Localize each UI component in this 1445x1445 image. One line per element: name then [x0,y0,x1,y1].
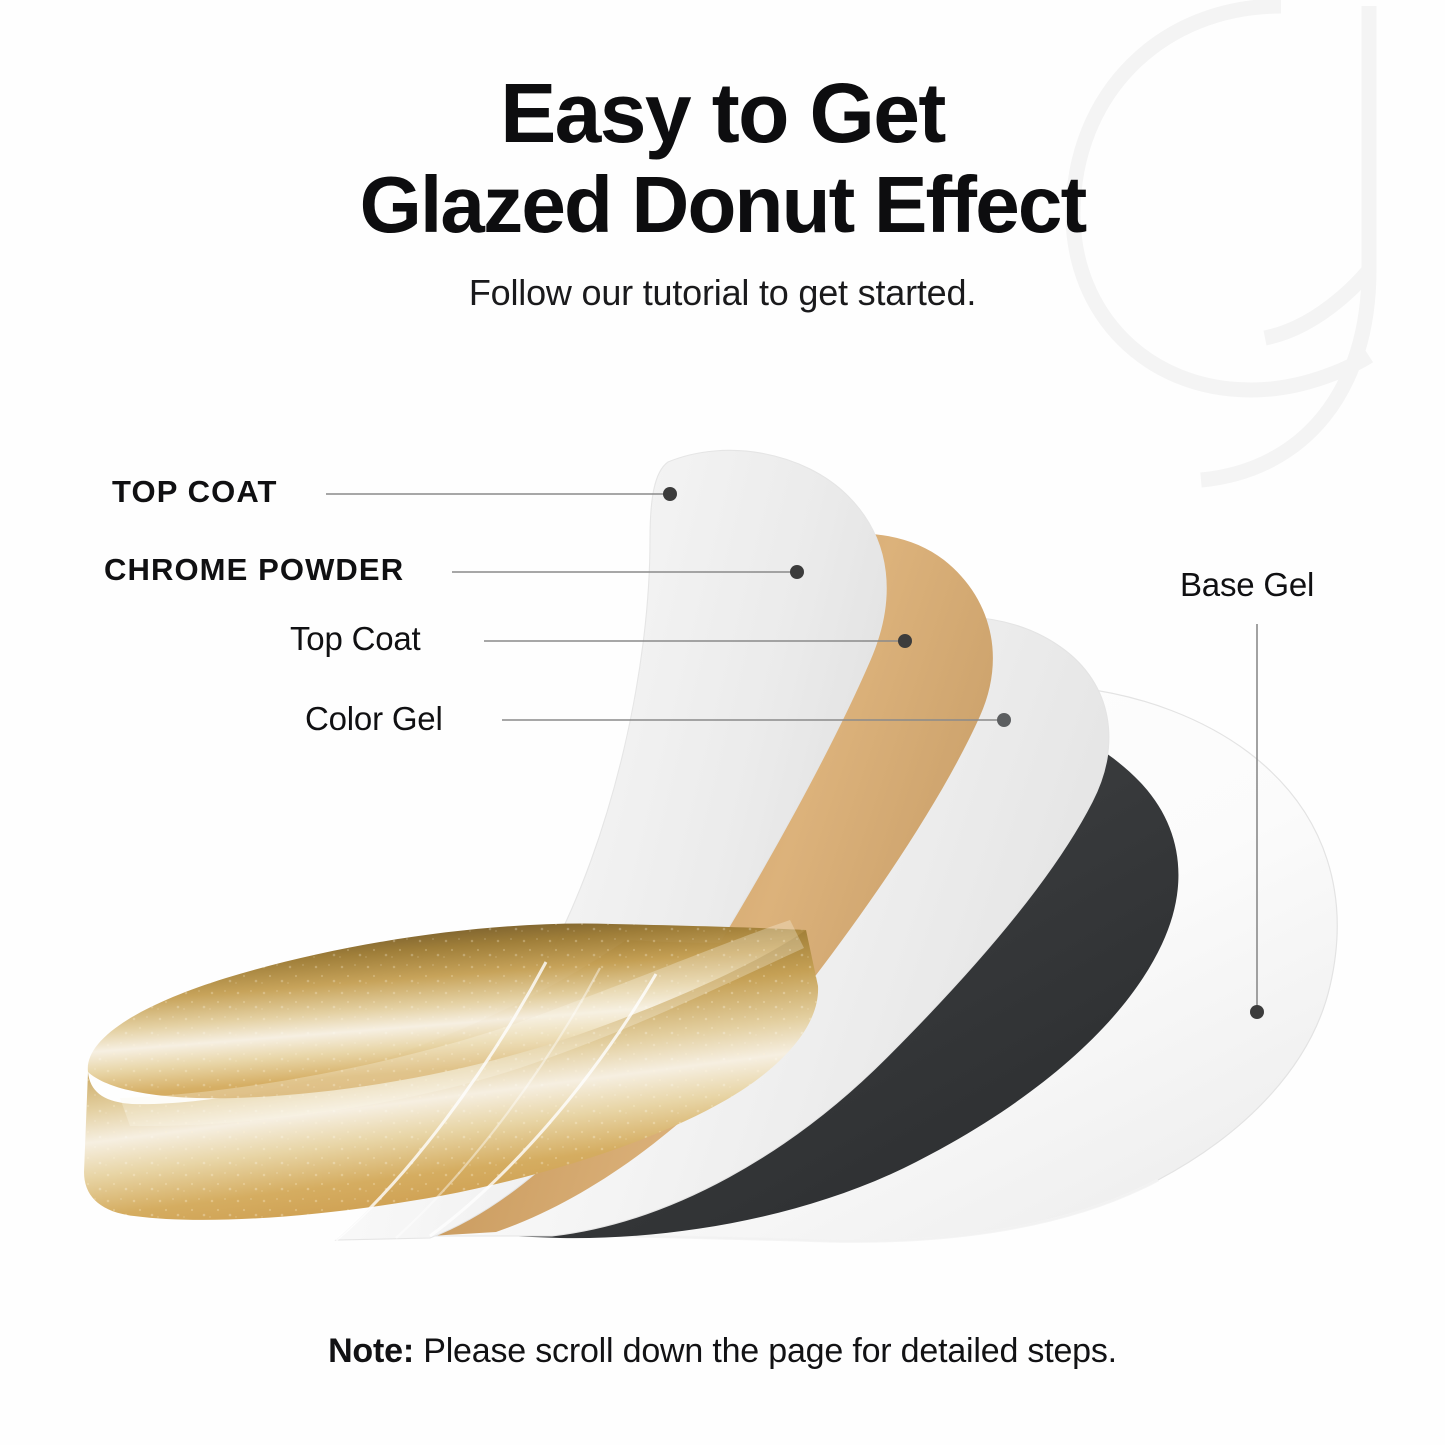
layered-nail-illustration [0,0,1445,1445]
callout-label-chrome-powder: CHROME POWDER [104,552,404,588]
footer-note-label: Note: [328,1332,414,1370]
footer-note-text: Please scroll down the page for detailed… [414,1332,1117,1370]
callout-label-base-gel: Base Gel [1180,566,1314,604]
callout-label-color-gel: Color Gel [305,700,443,738]
dot-chrome-powder [790,565,804,579]
footer-note: Note: Please scroll down the page for de… [0,1332,1445,1371]
dot-top-coat-upper [663,487,677,501]
callout-label-top-coat-lower: Top Coat [290,620,420,658]
callout-label-top-coat-upper: TOP COAT [112,474,278,510]
infographic-canvas: Easy to Get Glazed Donut Effect Follow o… [0,0,1445,1445]
dot-base-gel [1250,1005,1264,1019]
dot-top-coat-lower [898,634,912,648]
dot-color-gel [997,713,1011,727]
